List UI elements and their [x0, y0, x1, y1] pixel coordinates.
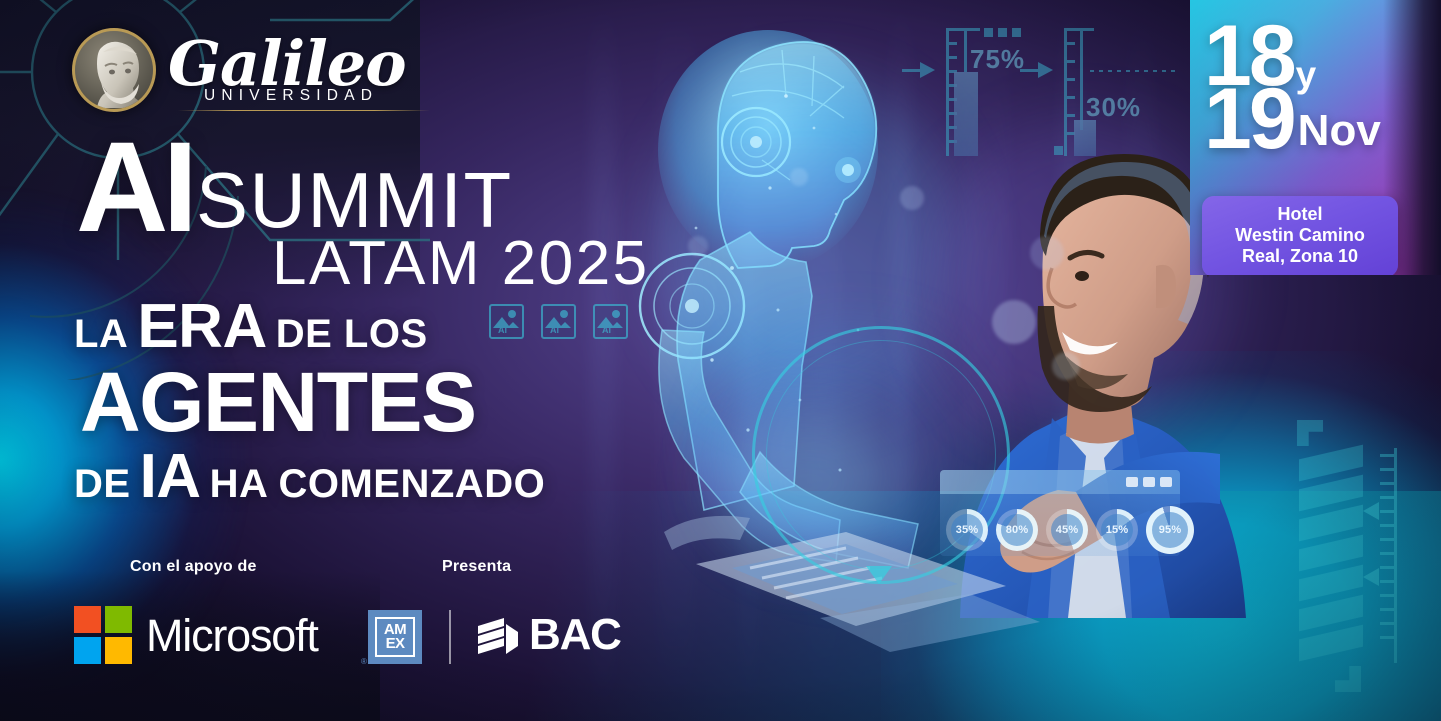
headline-era: ERA — [137, 296, 266, 358]
headline-block: LA ERA DE LOS AGENTES DE IA HA COMENZADO — [74, 296, 545, 508]
presents-label: Presenta — [442, 558, 511, 576]
venue-line-1: Hotel — [1212, 204, 1388, 225]
venue-line-2: Westin Camino — [1212, 225, 1388, 246]
svg-text:Ai: Ai — [550, 325, 559, 335]
venue-line-3: Real, Zona 10 — [1212, 246, 1388, 267]
galileo-medallion-icon — [72, 28, 156, 112]
svg-text:Ai: Ai — [602, 325, 611, 335]
event-logo-lockup: AI SUMMIT LATAM 2025 — [76, 134, 650, 293]
microsoft-wordmark: Microsoft — [146, 613, 318, 658]
headline-ia: IA — [140, 446, 201, 508]
date-conjunction-y: y — [1296, 56, 1317, 93]
amex-registered-mark: ® — [361, 657, 367, 666]
support-label: Con el apoyo de — [130, 558, 257, 576]
galileo-university-logo[interactable]: Galileo UNIVERSIDAD — [72, 28, 406, 112]
headline-de: DE — [74, 464, 131, 504]
sponsor-divider — [449, 610, 451, 664]
amex-line-2: EX — [386, 637, 405, 651]
bac-mark-icon — [474, 612, 520, 658]
ai-image-icon: Ai — [593, 304, 628, 339]
headline-agentes: AGENTES — [80, 360, 476, 444]
galileo-bust-icon — [81, 36, 147, 108]
headline-la: LA — [74, 314, 128, 354]
ai-summit-banner: 75% 30% 35% — [0, 0, 1441, 721]
latam-2025-text: LATAM 2025 — [272, 234, 650, 294]
amex-logo[interactable]: AM EX ® — [368, 610, 422, 664]
headline-de-los: DE LOS — [276, 314, 428, 354]
galileo-wordmark: Galileo UNIVERSIDAD — [168, 35, 406, 106]
amex-badge-icon: AM EX — [375, 617, 415, 657]
event-dates: 18 y 19 Nov — [1204, 22, 1381, 154]
bac-logo[interactable]: BAC — [474, 612, 621, 658]
galileo-script-text: Galileo — [168, 35, 406, 94]
sponsors-block: Con el apoyo de Presenta Microsoft AM EX… — [74, 558, 634, 678]
microsoft-squares-icon — [74, 606, 132, 664]
galileo-universidad-text: UNIVERSIDAD — [204, 87, 406, 105]
headline-ha-comenzado: HA COMENZADO — [210, 464, 546, 504]
microsoft-logo[interactable]: Microsoft — [74, 606, 318, 664]
date-day-19: 19 — [1204, 85, 1294, 154]
ai-image-icon: Ai — [541, 304, 576, 339]
galileo-gold-rule — [178, 110, 430, 112]
date-month-nov: Nov — [1298, 109, 1381, 153]
bac-wordmark: BAC — [529, 613, 621, 657]
venue-badge[interactable]: Hotel Westin Camino Real, Zona 10 — [1202, 196, 1398, 275]
ai-mark-text: AI — [76, 134, 192, 242]
summit-text: SUMMIT — [196, 165, 513, 237]
date-panel: 18 y 19 Nov Hotel Westin Camino Real, Zo… — [1190, 0, 1441, 275]
